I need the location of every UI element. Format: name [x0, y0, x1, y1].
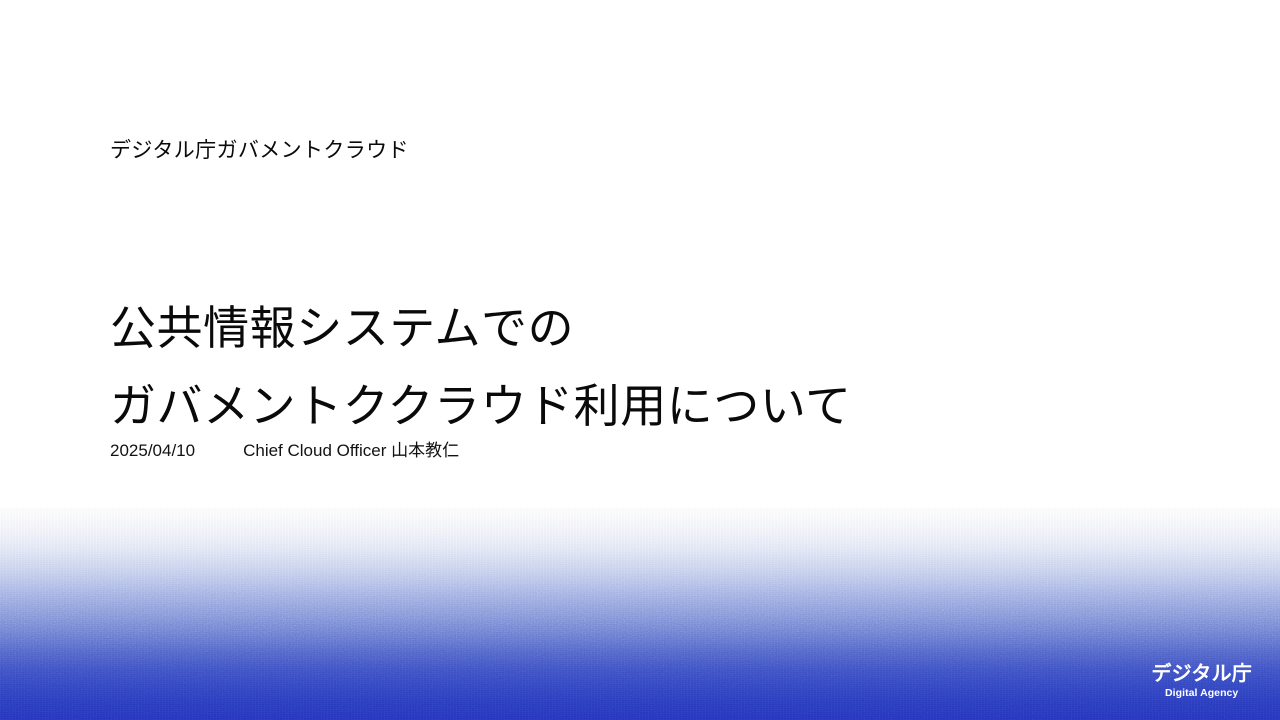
title-slide: デジタル庁ガバメントクラウド 公共情報システムでの ガバメントククラウド利用につ…: [0, 0, 1280, 720]
byline-presenter: Chief Cloud Officer 山本教仁: [243, 438, 459, 464]
logo-name-en: Digital Agency: [1151, 687, 1252, 700]
slide-eyebrow: デジタル庁ガバメントクラウド: [110, 136, 409, 166]
byline-date: 2025/04/10: [110, 438, 195, 464]
slide-title: 公共情報システムでの ガバメントククラウド利用について: [110, 289, 852, 445]
slide-title-line-2: ガバメントククラウド利用について: [110, 367, 852, 445]
slide-byline: 2025/04/10 Chief Cloud Officer 山本教仁: [110, 438, 459, 464]
digital-agency-logo: デジタル庁 Digital Agency: [1151, 662, 1252, 700]
slide-title-line-1: 公共情報システムでの: [110, 289, 852, 367]
logo-name-ja: デジタル庁: [1151, 662, 1252, 686]
bottom-gradient-band: [0, 508, 1280, 720]
